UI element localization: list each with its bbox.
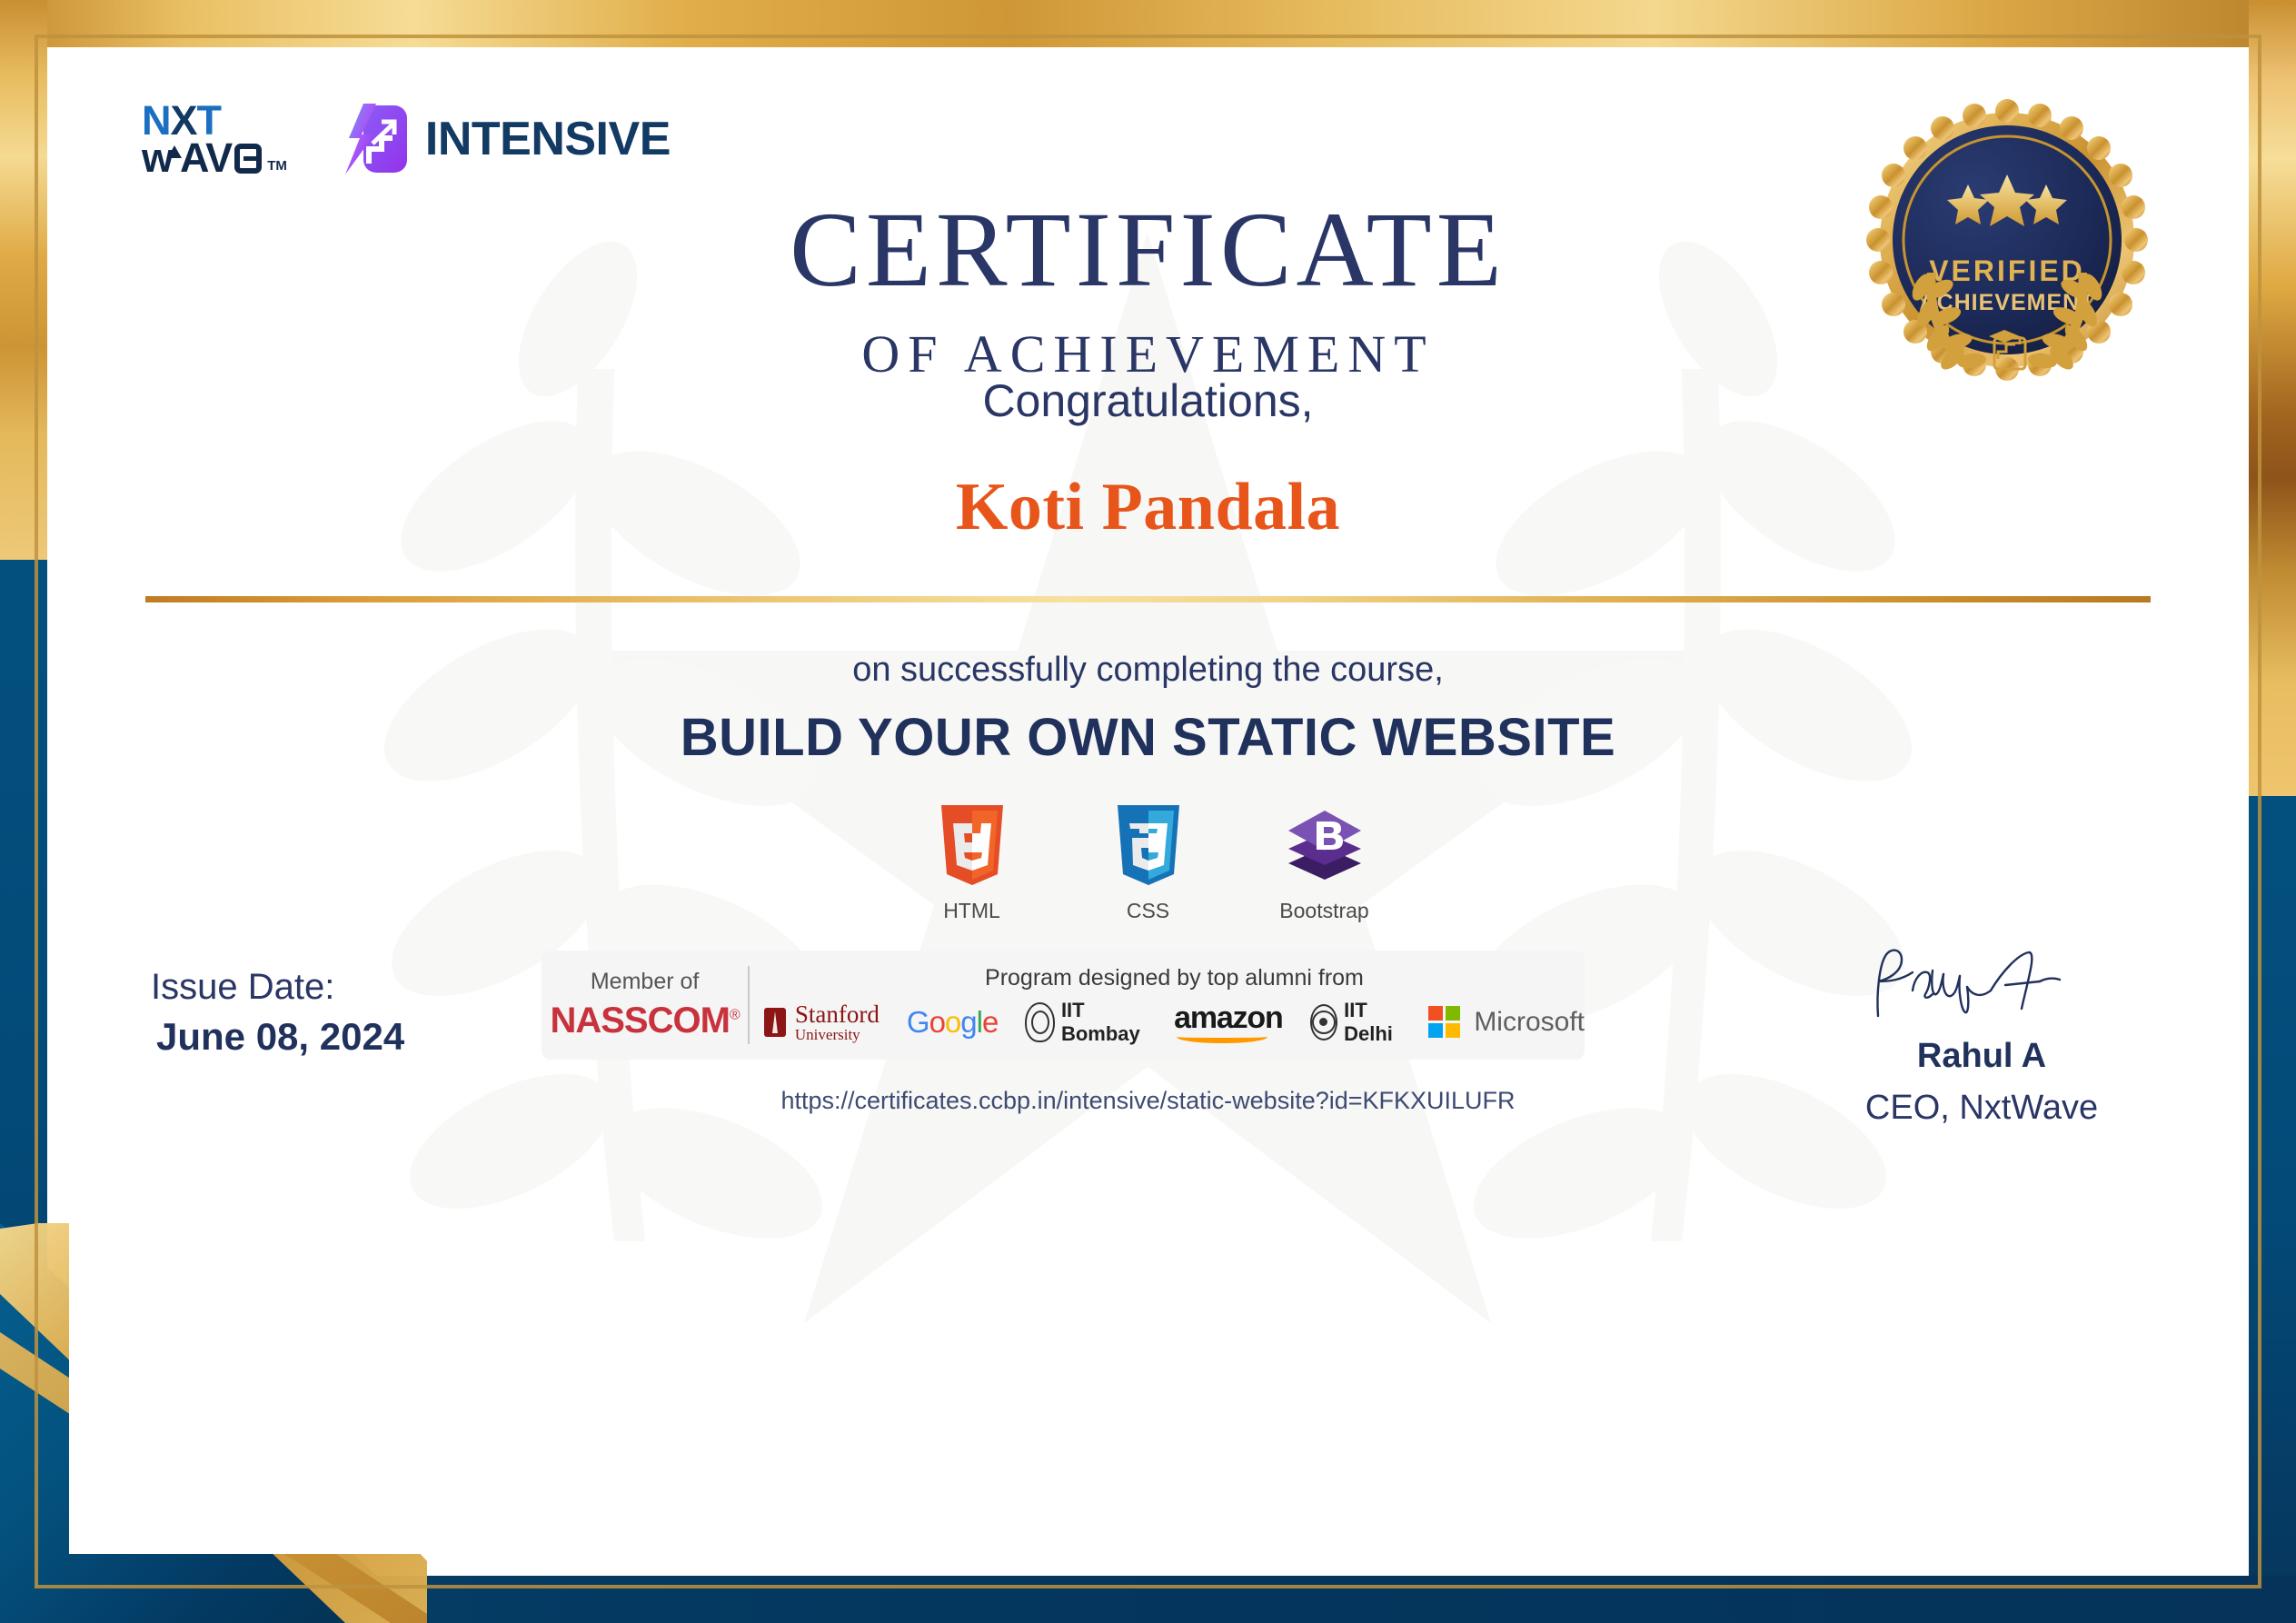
intensive-wordmark: INTENSIVE: [425, 112, 671, 166]
page-title: CERTIFICATE: [69, 196, 2227, 304]
stanford-logo: Stanford University: [764, 1002, 880, 1042]
nxtwave-av-letters: AV: [180, 139, 232, 176]
microsoft-logo: Microsoft: [1428, 1006, 1585, 1038]
technology-item-html: HTML: [913, 805, 1031, 923]
alumni-logos: Stanford University G o o g l e: [764, 999, 1585, 1046]
google-letter: o: [929, 1005, 945, 1040]
signatory-role: CEO, NxtWave: [1809, 1089, 2154, 1128]
stanford-line-1: Stanford: [795, 1002, 880, 1027]
bootstrap-icon: [1283, 805, 1367, 890]
nxtwave-logo-top: NXT: [142, 102, 262, 139]
issue-date-label: Issue Date:: [151, 967, 404, 1008]
iit-delhi-logo: IIT Delhi: [1310, 999, 1402, 1046]
technology-label: Bootstrap: [1279, 899, 1368, 923]
congratulations-text: Congratulations,: [69, 374, 2227, 427]
google-logo: G o o g l e: [907, 1005, 998, 1040]
nxtwave-logo-bottom: w AV: [142, 139, 262, 176]
css3-icon: [1113, 805, 1184, 890]
iit-bombay-seal-icon: [1025, 1002, 1055, 1042]
alumni-section: Program designed by top alumni from Stan…: [750, 965, 1585, 1046]
google-letter: o: [945, 1005, 960, 1040]
technology-label: HTML: [943, 899, 1000, 923]
header-logos: NXT w AV TM: [142, 102, 671, 177]
iit-bombay-label: IIT Bombay: [1061, 999, 1147, 1046]
course-intro-text: on successfully completing the course,: [69, 651, 2227, 690]
gold-divider-line: [145, 596, 2151, 602]
intensive-mark-icon: [336, 102, 411, 176]
technology-item-css: CSS: [1089, 805, 1208, 923]
nxtwave-e-box-icon: [234, 144, 262, 174]
signatory-name: Rahul A: [1809, 1037, 2154, 1076]
certificate-card: NXT w AV TM: [69, 69, 2227, 1554]
google-letter: e: [982, 1005, 998, 1040]
google-letter: G: [907, 1005, 929, 1040]
google-letter: g: [960, 1005, 976, 1040]
microsoft-label: Microsoft: [1474, 1007, 1585, 1038]
technology-label: CSS: [1127, 899, 1169, 923]
member-of-label: Member of: [591, 969, 699, 995]
microsoft-squares-icon: [1428, 1006, 1460, 1038]
technology-icons-row: HTML CSS: [69, 805, 2227, 923]
issue-date-block: Issue Date: June 08, 2024: [151, 967, 404, 1059]
member-of-section: Member of NASSCOM®: [542, 969, 748, 1041]
nxtwave-logo: NXT w AV TM: [142, 102, 287, 177]
trademark-symbol: TM: [267, 158, 287, 174]
signature-image: [1845, 1015, 2118, 1031]
technology-item-bootstrap: Bootstrap: [1266, 805, 1384, 923]
stanford-line-2: University: [795, 1027, 880, 1042]
intensive-logo: INTENSIVE: [336, 102, 671, 176]
amazon-logo: amazon: [1174, 1001, 1282, 1043]
title-block: CERTIFICATE OF ACHIEVEMENT: [69, 196, 2227, 384]
partner-panel: Member of NASSCOM® Program designed by t…: [542, 951, 1585, 1060]
alumni-label: Program designed by top alumni from: [985, 965, 1364, 991]
signature-block: Rahul A CEO, NxtWave: [1809, 940, 2154, 1128]
recipient-name: Koti Pandala: [69, 469, 2227, 546]
issue-date-value: June 08, 2024: [156, 1015, 404, 1059]
iit-delhi-label: IIT Delhi: [1344, 999, 1401, 1046]
course-name: BUILD YOUR OWN STATIC WEBSITE: [69, 707, 2227, 768]
html5-icon: [937, 805, 1008, 890]
iit-bombay-logo: IIT Bombay: [1025, 999, 1147, 1046]
up-arrow-icon: [167, 145, 182, 158]
iit-delhi-seal-icon: [1310, 1004, 1338, 1041]
nasscom-logo: NASSCOM®: [550, 1001, 739, 1041]
stanford-tree-icon: [764, 1008, 786, 1037]
certificate-root: NXT w AV TM: [0, 0, 2296, 1623]
